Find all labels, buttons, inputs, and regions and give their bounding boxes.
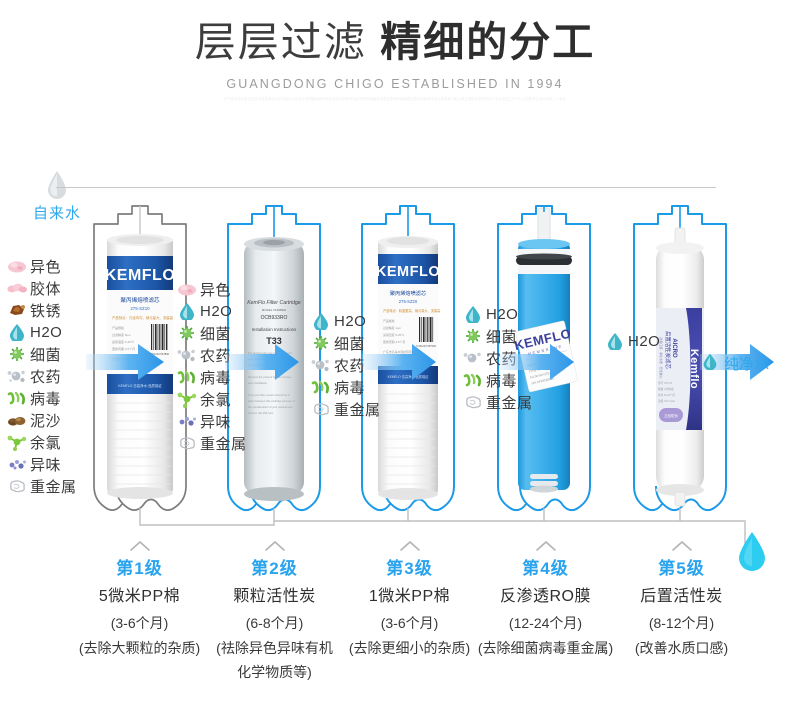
list-item: H2O	[460, 303, 533, 325]
pesticide-icon	[4, 366, 30, 386]
pesticide-icon	[308, 355, 334, 375]
contaminant-label: 病毒	[30, 388, 61, 409]
list-item: 异色	[174, 278, 247, 300]
list-item: H2O	[308, 310, 381, 332]
page-title: 层层过滤 精细的分工	[0, 18, 790, 66]
list-item: 重金属	[174, 432, 247, 454]
contaminant-label: H2O	[486, 306, 518, 323]
list-item: 余氯	[174, 388, 247, 410]
svg-text:MODEL NUMBER: MODEL NUMBER	[262, 308, 287, 312]
inlet-label: 自来水	[22, 202, 92, 223]
svg-text:后置活性炭滤芯: 后置活性炭滤芯	[664, 331, 672, 369]
svg-text:适用温度 5-45℃: 适用温度 5-45℃	[383, 332, 405, 337]
stage-desc: (去除大颗粒的杂质)	[62, 637, 217, 661]
svg-text:过滤精度 1μm: 过滤精度 1μm	[383, 325, 402, 330]
list-item: 重金属	[4, 475, 77, 497]
heavy-metal-icon	[308, 399, 334, 419]
stage-life: (6-8个月)	[197, 611, 352, 637]
contaminant-label: 病毒	[334, 377, 365, 398]
pesticide-icon	[460, 348, 486, 368]
stage-level: 第2级	[197, 556, 352, 582]
list-item: 泥沙	[4, 409, 77, 431]
bacteria-icon	[174, 323, 200, 343]
stage-desc: (改善水质口感)	[604, 637, 759, 661]
sediment-icon	[4, 410, 30, 430]
svg-text:产品特点：精度更高、纳污量大、流量高: 产品特点：精度更高、纳污量大、流量高	[383, 308, 440, 313]
virus-icon	[4, 388, 30, 408]
contaminant-label: 重金属	[486, 392, 533, 413]
contaminant-label: 胶体	[30, 278, 61, 299]
contaminant-label: H2O	[30, 324, 62, 341]
stage-label-5: 第5级 后置活性炭 (8-12个月) (改善水质口感)	[604, 540, 759, 661]
stage-level: 第5级	[604, 556, 759, 582]
list-item: 重金属	[460, 391, 533, 413]
chevron-up-icon	[129, 540, 151, 552]
stage-life: (3-6个月)	[62, 611, 217, 637]
svg-text:place between this cartridge a: place between this cartridge and use of	[248, 399, 295, 403]
svg-text:产品规格: 产品规格	[112, 325, 124, 330]
list-item: 病毒	[4, 387, 77, 409]
stage-name: 5微米PP棉	[62, 582, 217, 612]
stage-desc2: 化学物质等)	[197, 661, 352, 685]
colloid-icon	[4, 278, 30, 298]
contaminant-label: 异味	[200, 411, 231, 432]
water-drop-icon	[4, 322, 30, 342]
svg-text:寿命 8-12个月: 寿命 8-12个月	[658, 393, 675, 397]
list-item: 铁锈	[4, 299, 77, 321]
page-title-light: 层层过滤	[195, 19, 367, 65]
svg-text:KEMFLO: KEMFLO	[105, 267, 176, 284]
page-title-bold: 精细的分工	[380, 19, 595, 65]
stage-label-3: 第3级 1微米PP棉 (3-6个月) (去除更细小的杂质)	[332, 540, 487, 661]
stage-level: 第1级	[62, 556, 217, 582]
contaminant-label: 农药	[30, 366, 61, 387]
svg-text:OCB933RO: OCB933RO	[261, 315, 288, 321]
flow-arrow-3	[362, 338, 438, 391]
chevron-up-icon	[264, 540, 286, 552]
list-item: 异味	[174, 410, 247, 432]
svg-text:AICRO: AICRO	[671, 338, 677, 358]
list-item: H2O	[602, 330, 660, 352]
svg-text:KemFlo Filter Cartridge: KemFlo Filter Cartridge	[247, 300, 301, 306]
stage-life: (8-12个月)	[604, 611, 759, 637]
odor-icon	[4, 454, 30, 474]
svg-text:正品防伪: 正品防伪	[664, 413, 678, 418]
chlorine-icon	[174, 389, 200, 409]
bacteria-icon	[308, 333, 334, 353]
svg-text:聚丙烯熔喷滤芯: 聚丙烯熔喷滤芯	[390, 289, 426, 297]
stage-level: 第4级	[468, 556, 623, 582]
contaminant-label: 异味	[30, 454, 61, 475]
svg-text:Service Life 266 GAL: Service Life 266 GAL	[248, 411, 274, 415]
bacteria-icon	[460, 326, 486, 346]
contaminant-label: 铁锈	[30, 300, 61, 321]
water-drop-icon	[308, 311, 334, 331]
flow-arrow-2	[225, 338, 301, 391]
svg-text:Kemflo: Kemflo	[688, 349, 700, 389]
stage-label-4: 第4级 反渗透RO膜 (12-24个月) (去除细菌病毒重金属)	[468, 540, 623, 661]
contaminant-label: 细菌	[334, 333, 365, 354]
svg-text:型号 CTO-5: 型号 CTO-5	[658, 381, 673, 385]
svg-text:规格 2分快接: 规格 2分快接	[658, 387, 674, 391]
stage-name: 颗粒活性炭	[197, 582, 352, 612]
stage-label-2: 第2级 颗粒活性炭 (6-8个月) (祛除异色异味有机 化学物质等)	[197, 540, 352, 685]
list-item: 余氯	[4, 431, 77, 453]
pesticide-icon	[174, 345, 200, 365]
water-drop-icon	[174, 301, 200, 321]
bacteria-icon	[4, 344, 30, 364]
color-blob-icon	[4, 256, 30, 276]
outlet-block: 纯净水	[700, 352, 769, 375]
stage-level: 第3级	[332, 556, 487, 582]
heavy-metal-icon	[460, 392, 486, 412]
svg-text:产品规格: 产品规格	[383, 318, 395, 323]
flow-arrow-4	[500, 338, 576, 391]
flow-arrow-1	[86, 338, 166, 391]
contaminant-label: 异色	[200, 279, 231, 300]
outlet-label: 纯净水	[724, 353, 769, 374]
heavy-metal-icon	[174, 433, 200, 453]
stage-label-1: 第1级 5微米PP棉 (3-6个月) (去除大颗粒的杂质)	[62, 540, 217, 661]
contaminant-label: 重金属	[30, 476, 77, 497]
svg-text:275-SZ20: 275-SZ20	[399, 299, 418, 304]
contaminant-list-before-stage-1: 异色 胶体 铁锈 H2O 细菌 农药 病毒 泥沙 余氯 异味 重金属	[4, 255, 77, 497]
virus-icon	[308, 377, 334, 397]
svg-text:275-SZ10: 275-SZ10	[130, 306, 150, 311]
svg-text:Only your filter system should: Only your filter system should be in	[248, 393, 290, 397]
chlorine-icon	[4, 432, 30, 452]
list-item: H2O	[4, 321, 77, 343]
contaminant-label: 余氯	[200, 389, 231, 410]
contaminant-label: 泥沙	[30, 410, 61, 431]
filtration-infographic: 层层过滤 精细的分工 GUANGDONG CHIGO ESTABLISHED I…	[0, 0, 790, 723]
odor-icon	[174, 411, 200, 431]
rust-icon	[4, 300, 30, 320]
header: 层层过滤 精细的分工 GUANGDONG CHIGO ESTABLISHED I…	[0, 0, 790, 119]
svg-text:流量 0.5 L/min: 流量 0.5 L/min	[658, 399, 676, 403]
stage-desc: (祛除异色异味有机	[197, 637, 352, 661]
virus-icon	[174, 367, 200, 387]
list-item: 农药	[4, 365, 77, 387]
svg-text:the consideration of your requ: the consideration of your requirement.	[248, 405, 294, 409]
svg-text:聚丙烯熔喷滤芯: 聚丙烯熔喷滤芯	[120, 296, 160, 304]
contaminant-label: H2O	[628, 333, 660, 350]
water-drop-icon	[602, 331, 628, 351]
svg-text:KEMFLO: KEMFLO	[376, 264, 440, 280]
contaminant-list-before-stage-5: H2O	[602, 330, 660, 352]
water-drop-icon	[460, 304, 486, 324]
contaminant-label: 重金属	[200, 433, 247, 454]
contaminant-label: 重金属	[334, 399, 381, 420]
stage-life: (12-24个月)	[468, 611, 623, 637]
decorative-background-text: 本产品采用五级过滤技术层层净化水质去除水中的泥沙铁锈胶体悬浮物余氯异色异味有机化…	[65, 97, 725, 119]
chevron-up-icon	[399, 540, 421, 552]
feed-pipe-line	[56, 187, 716, 188]
chevron-up-icon	[671, 540, 693, 552]
stage-desc: (去除细菌病毒重金属)	[468, 637, 623, 661]
contaminant-label: H2O	[334, 313, 366, 330]
water-drop-icon	[46, 170, 68, 200]
list-item: 异色	[4, 255, 77, 277]
stage-name: 反渗透RO膜	[468, 582, 623, 612]
list-item: 细菌	[4, 343, 77, 365]
virus-icon	[460, 370, 486, 390]
water-drop-icon	[700, 352, 720, 375]
stage-name: 1微米PP棉	[332, 582, 487, 612]
heavy-metal-icon	[4, 476, 30, 496]
svg-text:产品特点：孔径均匀、纳污量大、流量高: 产品特点：孔径均匀、纳污量大、流量高	[112, 315, 174, 320]
color-blob-icon	[174, 279, 200, 299]
contaminant-label: 农药	[334, 355, 365, 376]
list-item: 异味	[4, 453, 77, 475]
list-item: H2O	[174, 300, 247, 322]
list-item: 胶体	[4, 277, 77, 299]
stage-life: (3-6个月)	[332, 611, 487, 637]
stage-desc: (去除更细小的杂质)	[332, 637, 487, 661]
contaminant-label: 余氯	[30, 432, 61, 453]
stage-name: 后置活性炭	[604, 582, 759, 612]
page-subtitle: GUANGDONG CHIGO ESTABLISHED IN 1994	[0, 77, 790, 91]
svg-text:过滤精度 5μm: 过滤精度 5μm	[112, 332, 131, 337]
svg-text:Installation Instructions: Installation Instructions	[252, 327, 297, 332]
chevron-up-icon	[535, 540, 557, 552]
contaminant-label: 异色	[30, 256, 61, 277]
contaminant-label: 细菌	[30, 344, 61, 365]
inlet-block: 自来水	[22, 170, 92, 223]
list-item: 重金属	[308, 398, 381, 420]
contaminant-label: H2O	[200, 303, 232, 320]
